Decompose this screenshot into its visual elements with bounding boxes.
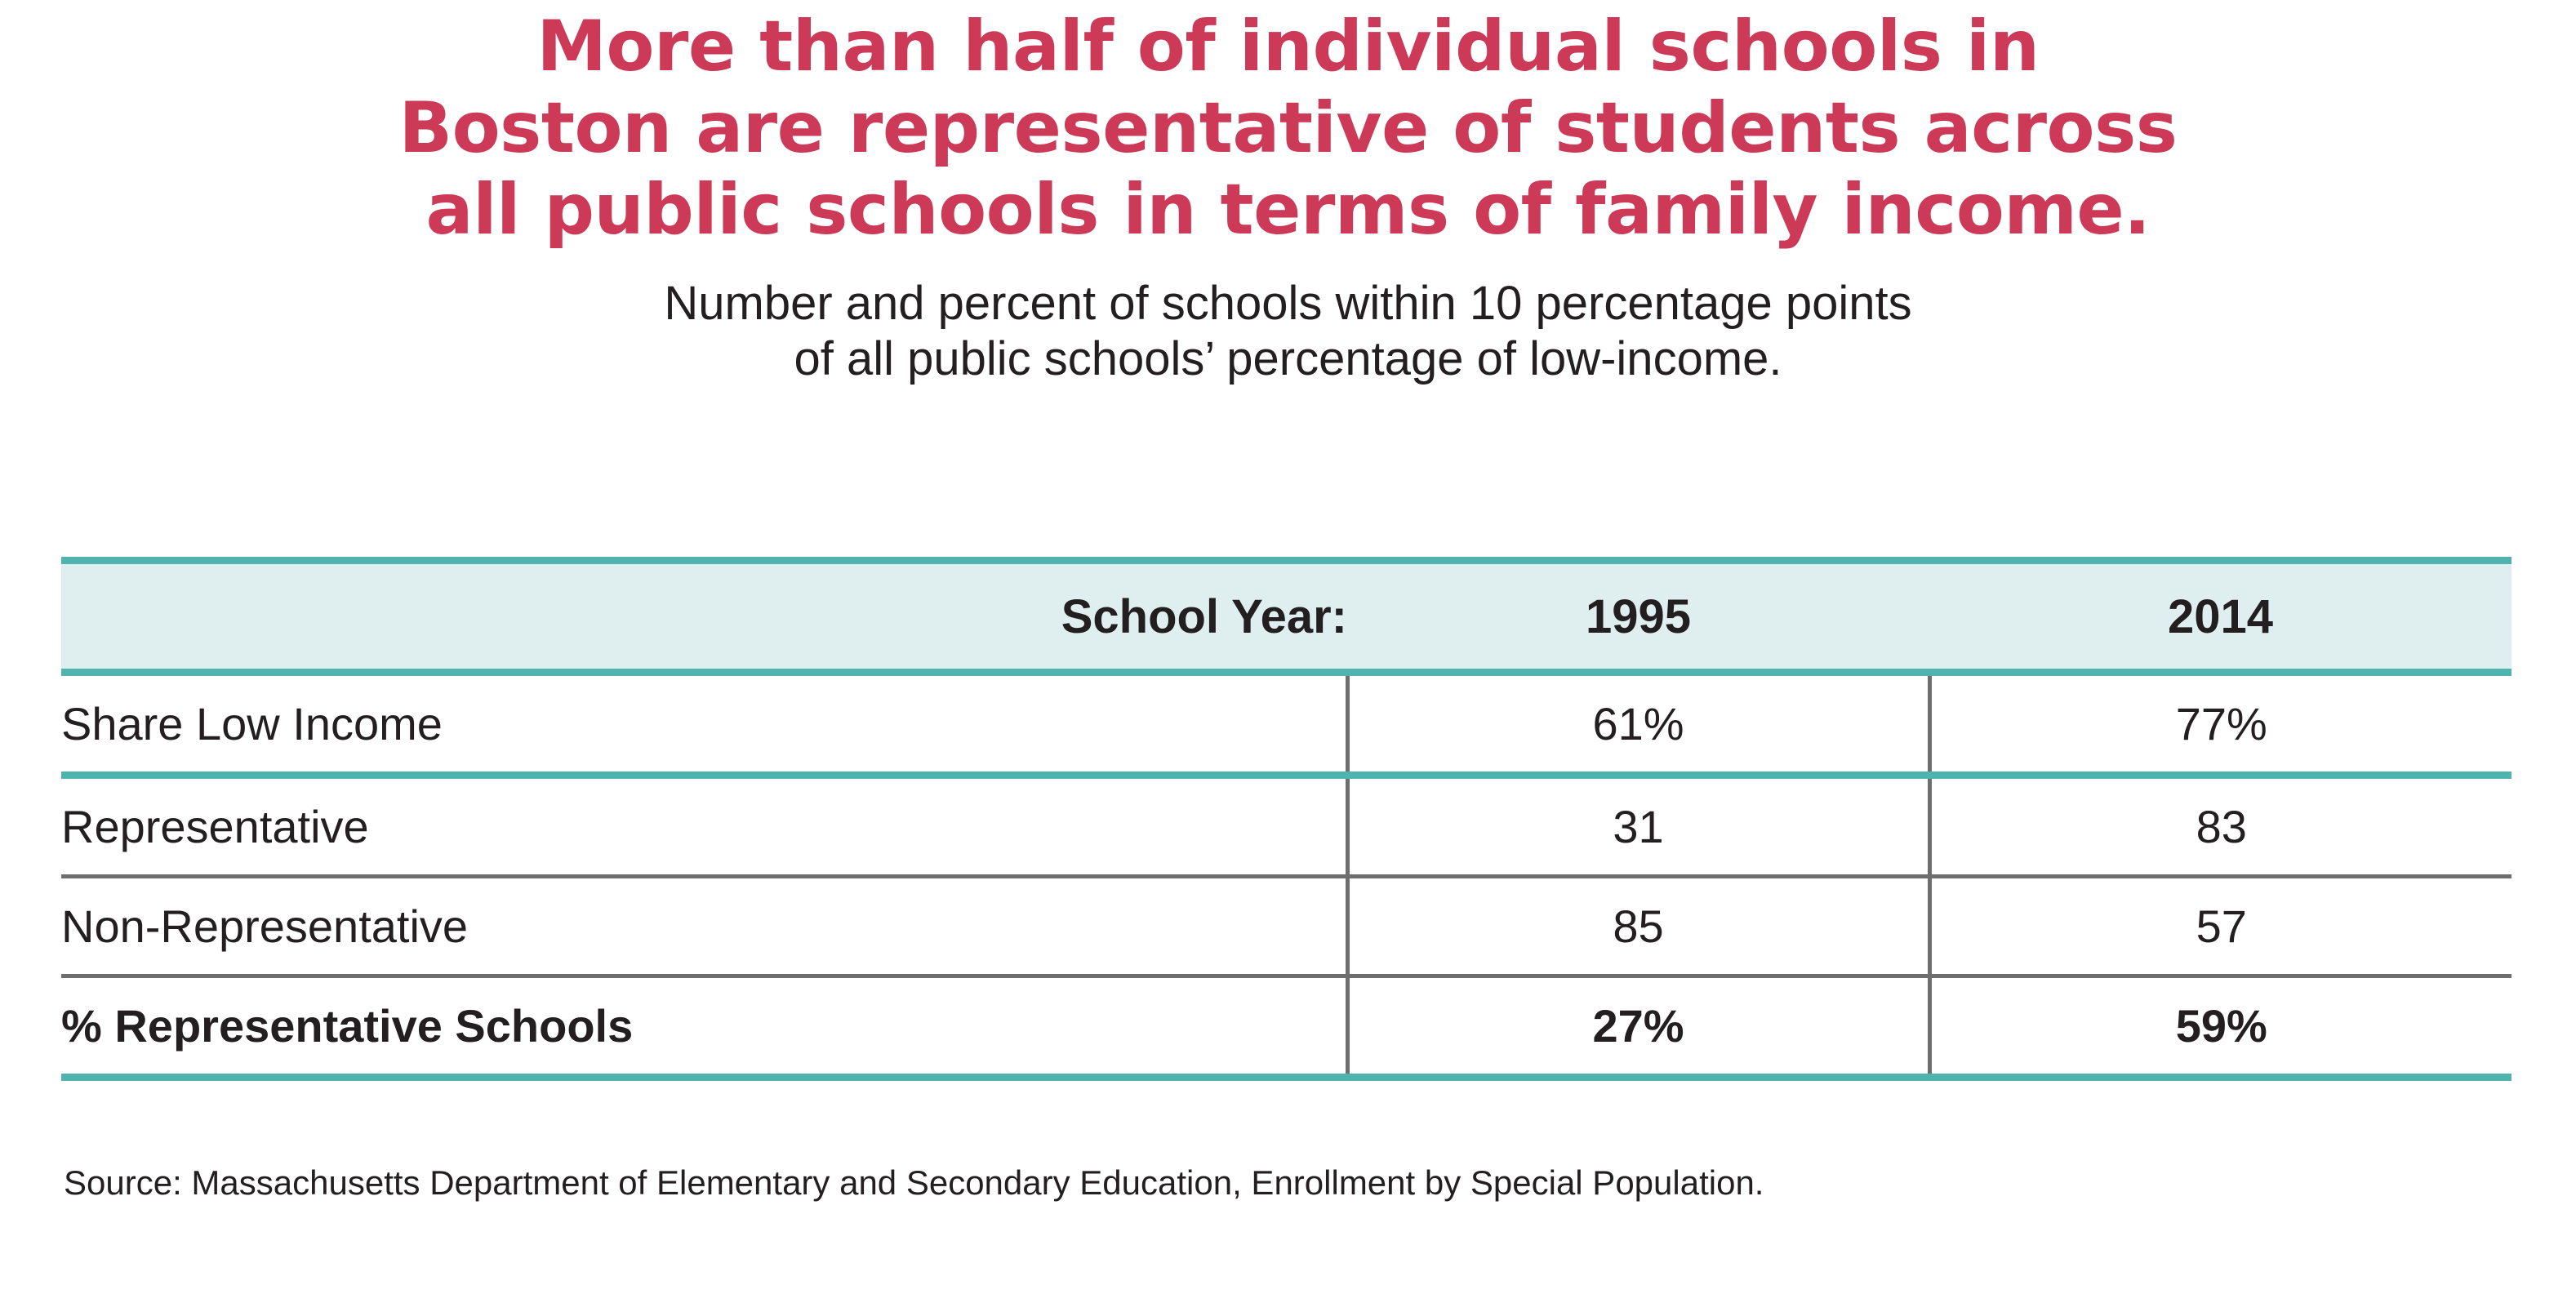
cell-percent-representative-schools-2014: 59% xyxy=(1929,976,2511,1078)
table-body: Share Low Income 61% 77% Representative … xyxy=(61,673,2511,1078)
page-title: More than half of individual schools in … xyxy=(0,0,2576,256)
cell-representative-2014: 83 xyxy=(1929,776,2511,877)
column-header-2014: 2014 xyxy=(1929,561,2511,673)
schools-representativeness-table: School Year: 1995 2014 Share Low Income … xyxy=(61,557,2511,1081)
subtitle-line-2: of all public schools’ percentage of low… xyxy=(0,331,2576,387)
row-label-representative: Representative xyxy=(61,776,1347,877)
table-row: Non-Representative 85 57 xyxy=(61,877,2511,976)
page-subtitle: Number and percent of schools within 10 … xyxy=(0,276,2576,388)
row-label-percent-representative-schools: % Representative Schools xyxy=(61,976,1347,1078)
cell-non-representative-2014: 57 xyxy=(1929,877,2511,976)
table-row-total: % Representative Schools 27% 59% xyxy=(61,976,2511,1078)
table-row: Share Low Income 61% 77% xyxy=(61,673,2511,776)
source-note: Source: Massachusetts Department of Elem… xyxy=(64,1163,1764,1203)
table-header-row: School Year: 1995 2014 xyxy=(61,561,2511,673)
row-label-share-low-income: Share Low Income xyxy=(61,673,1347,776)
data-table-container: School Year: 1995 2014 Share Low Income … xyxy=(61,557,2511,1081)
column-header-school-year: School Year: xyxy=(61,561,1347,673)
cell-non-representative-1995: 85 xyxy=(1347,877,1929,976)
cell-share-low-income-1995: 61% xyxy=(1347,673,1929,776)
title-line-1: More than half of individual schools in xyxy=(0,11,2576,93)
table-row: Representative 31 83 xyxy=(61,776,2511,877)
cell-share-low-income-2014: 77% xyxy=(1929,673,2511,776)
title-line-3: all public schools in terms of family in… xyxy=(0,175,2576,256)
table-head: School Year: 1995 2014 xyxy=(61,561,2511,673)
cell-percent-representative-schools-1995: 27% xyxy=(1347,976,1929,1078)
title-line-2: Boston are representative of students ac… xyxy=(0,93,2576,175)
subtitle-line-1: Number and percent of schools within 10 … xyxy=(0,276,2576,331)
cell-representative-1995: 31 xyxy=(1347,776,1929,877)
infographic-page: More than half of individual schools in … xyxy=(0,0,2576,1294)
row-label-non-representative: Non-Representative xyxy=(61,877,1347,976)
column-header-1995: 1995 xyxy=(1347,561,1929,673)
